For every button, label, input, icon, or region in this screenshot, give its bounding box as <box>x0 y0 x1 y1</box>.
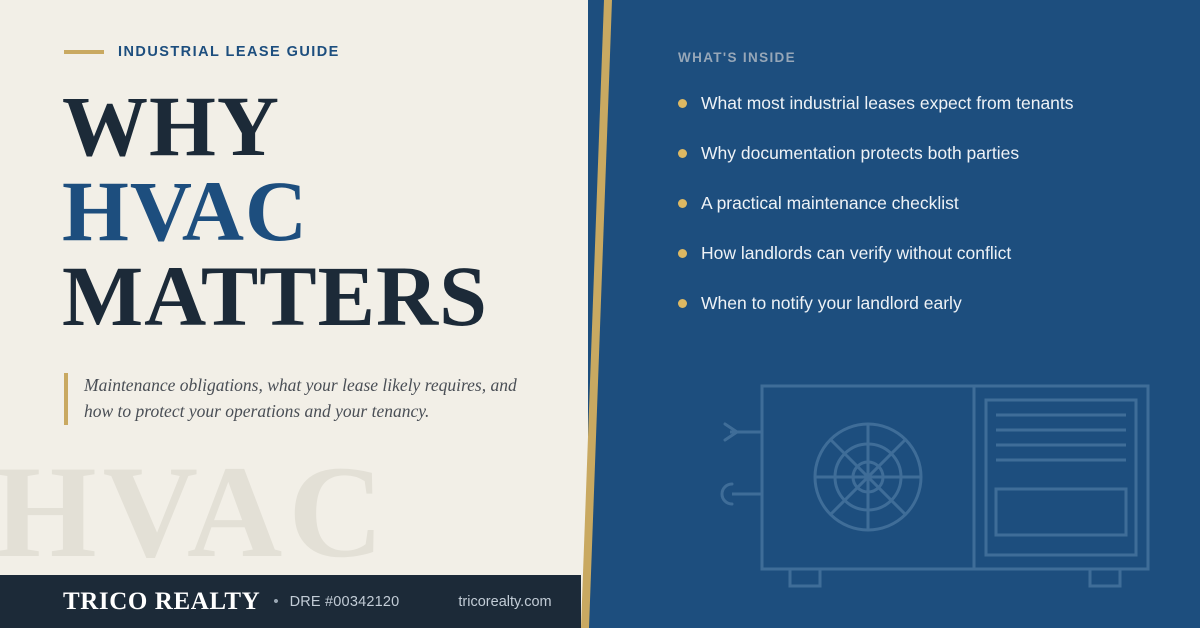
hvac-condenser-unit-icon <box>710 370 1170 605</box>
footer-separator: • <box>273 593 278 610</box>
eyebrow: INDUSTRIAL LEASE GUIDE <box>64 44 340 60</box>
watermark-text: HVAC <box>0 446 390 578</box>
left-column: HVAC INDUSTRIAL LEASE GUIDE WHY HVAC MAT… <box>0 0 600 628</box>
subtitle-text: Maintenance obligations, what your lease… <box>84 373 544 425</box>
footer-bar: TRICO REALTY • DRE #00342120 tricorealty… <box>0 575 581 628</box>
eyebrow-rule <box>64 50 104 54</box>
bullet-dot-icon <box>678 299 687 308</box>
poster-canvas: HVAC INDUSTRIAL LEASE GUIDE WHY HVAC MAT… <box>0 0 1200 628</box>
subtitle-accent-bar <box>64 373 68 425</box>
subtitle-block: Maintenance obligations, what your lease… <box>64 373 544 425</box>
list-item-label: A practical maintenance checklist <box>701 192 959 215</box>
bullet-list: What most industrial leases expect from … <box>678 92 1148 342</box>
list-item-label: When to notify your landlord early <box>701 292 962 315</box>
brand-name: TRICO REALTY <box>63 588 260 616</box>
page-title: WHY HVAC MATTERS <box>62 84 582 339</box>
list-item: How landlords can verify without conflic… <box>678 242 1148 292</box>
list-item: Why documentation protects both parties <box>678 142 1148 192</box>
headline-line-3: MATTERS <box>62 254 582 339</box>
license-number: DRE #00342120 <box>290 594 400 610</box>
list-item-label: How landlords can verify without conflic… <box>701 242 1011 265</box>
bullet-dot-icon <box>678 199 687 208</box>
list-item-label: Why documentation protects both parties <box>701 142 1019 165</box>
list-item: A practical maintenance checklist <box>678 192 1148 242</box>
eyebrow-label: INDUSTRIAL LEASE GUIDE <box>118 44 340 60</box>
whats-inside-label: WHAT'S INSIDE <box>678 50 796 65</box>
bullet-dot-icon <box>678 249 687 258</box>
list-item: When to notify your landlord early <box>678 292 1148 342</box>
bullet-dot-icon <box>678 149 687 158</box>
list-item-label: What most industrial leases expect from … <box>701 92 1074 115</box>
list-item: What most industrial leases expect from … <box>678 92 1148 142</box>
website-url: tricorealty.com <box>458 594 551 610</box>
bullet-dot-icon <box>678 99 687 108</box>
headline-line-2: HVAC <box>62 169 582 254</box>
headline-line-1: WHY <box>62 84 582 169</box>
